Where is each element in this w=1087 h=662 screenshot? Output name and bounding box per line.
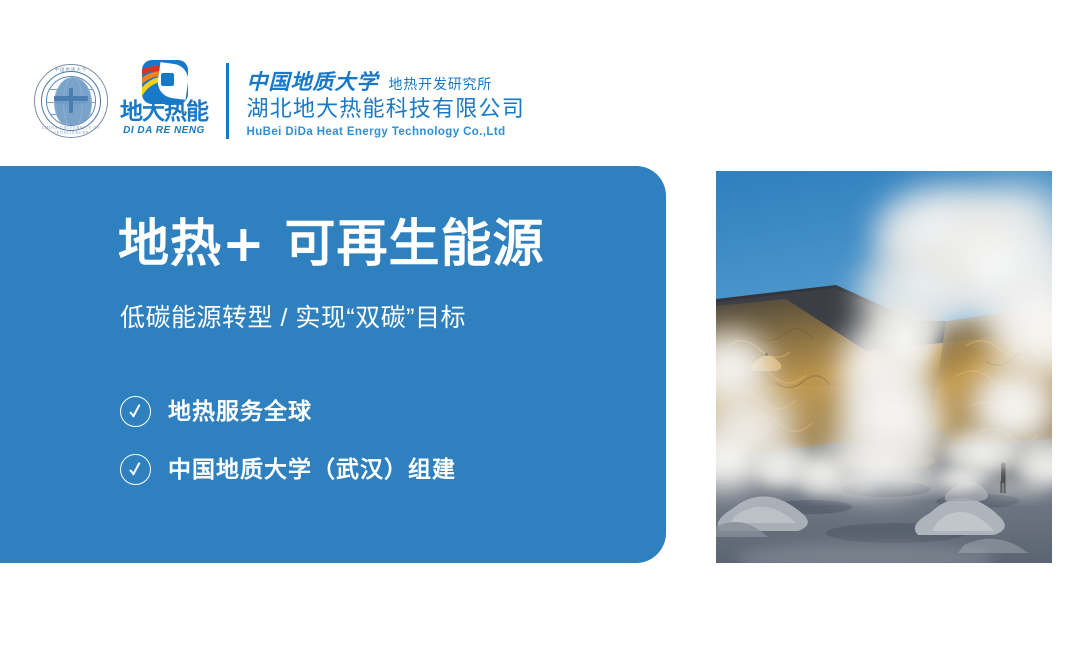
page-title: 地热+ 可再生能源 <box>118 219 545 270</box>
photo-illustration <box>716 171 1052 563</box>
company-name: 湖北地大热能科技有限公司 <box>247 97 525 122</box>
dida-logotype-en: DI DA RE NENG <box>116 125 212 136</box>
seal-ring-text-bottom: CHINA UNIVERSITY OF GEOSCIENCES <box>34 125 108 135</box>
geothermal-steam-field-photo <box>716 171 1052 563</box>
company-name-en: HuBei DiDa Heat Energy Technology Co.,Lt… <box>247 126 525 138</box>
institute-name: 地热开发研究所 <box>389 74 493 94</box>
check-circle-icon <box>120 396 151 427</box>
check-circle-icon <box>120 454 151 485</box>
list-item: 中国地质大学（武汉）组建 <box>120 449 456 489</box>
hero-panel: 地热+ 可再生能源 低碳能源转型 / 实现“双碳”目标 地热服务全球 中国地质大… <box>0 166 666 563</box>
dida-rainbow-square-icon <box>142 60 188 104</box>
list-item-label: 中国地质大学（武汉）组建 <box>168 458 456 481</box>
brand-row: 中国地质大学 CHINA UNIVERSITY OF GEOSCIENCES <box>34 58 525 144</box>
brand-divider <box>226 63 229 139</box>
brand-header: 中国地质大学 CHINA UNIVERSITY OF GEOSCIENCES <box>0 0 1087 160</box>
dida-logotype: 地大热能 DI DA RE NENG <box>116 60 212 142</box>
hero-bullet-list: 地热服务全球 中国地质大学（武汉）组建 <box>120 391 456 507</box>
brand-text-block: 中国地质大学 地热开发研究所 湖北地大热能科技有限公司 HuBei DiDa H… <box>247 64 525 139</box>
list-item-label: 地热服务全球 <box>168 400 312 423</box>
seal-hammer-emblem <box>54 88 88 114</box>
university-name: 中国地质大学 <box>247 66 379 96</box>
hero-content: 地热+ 可再生能源 低碳能源转型 / 实现“双碳”目标 地热服务全球 中国地质大… <box>118 166 638 563</box>
brand-line-university: 中国地质大学 地热开发研究所 <box>247 66 525 92</box>
dida-logotype-cn: 地大热能 <box>116 100 212 124</box>
hero-subtitle: 低碳能源转型 / 实现“双碳”目标 <box>120 306 466 331</box>
seal-ring-text-top: 中国地质大学 <box>34 67 108 73</box>
list-item: 地热服务全球 <box>120 391 456 431</box>
university-seal-globe-icon: 中国地质大学 CHINA UNIVERSITY OF GEOSCIENCES <box>34 64 108 138</box>
